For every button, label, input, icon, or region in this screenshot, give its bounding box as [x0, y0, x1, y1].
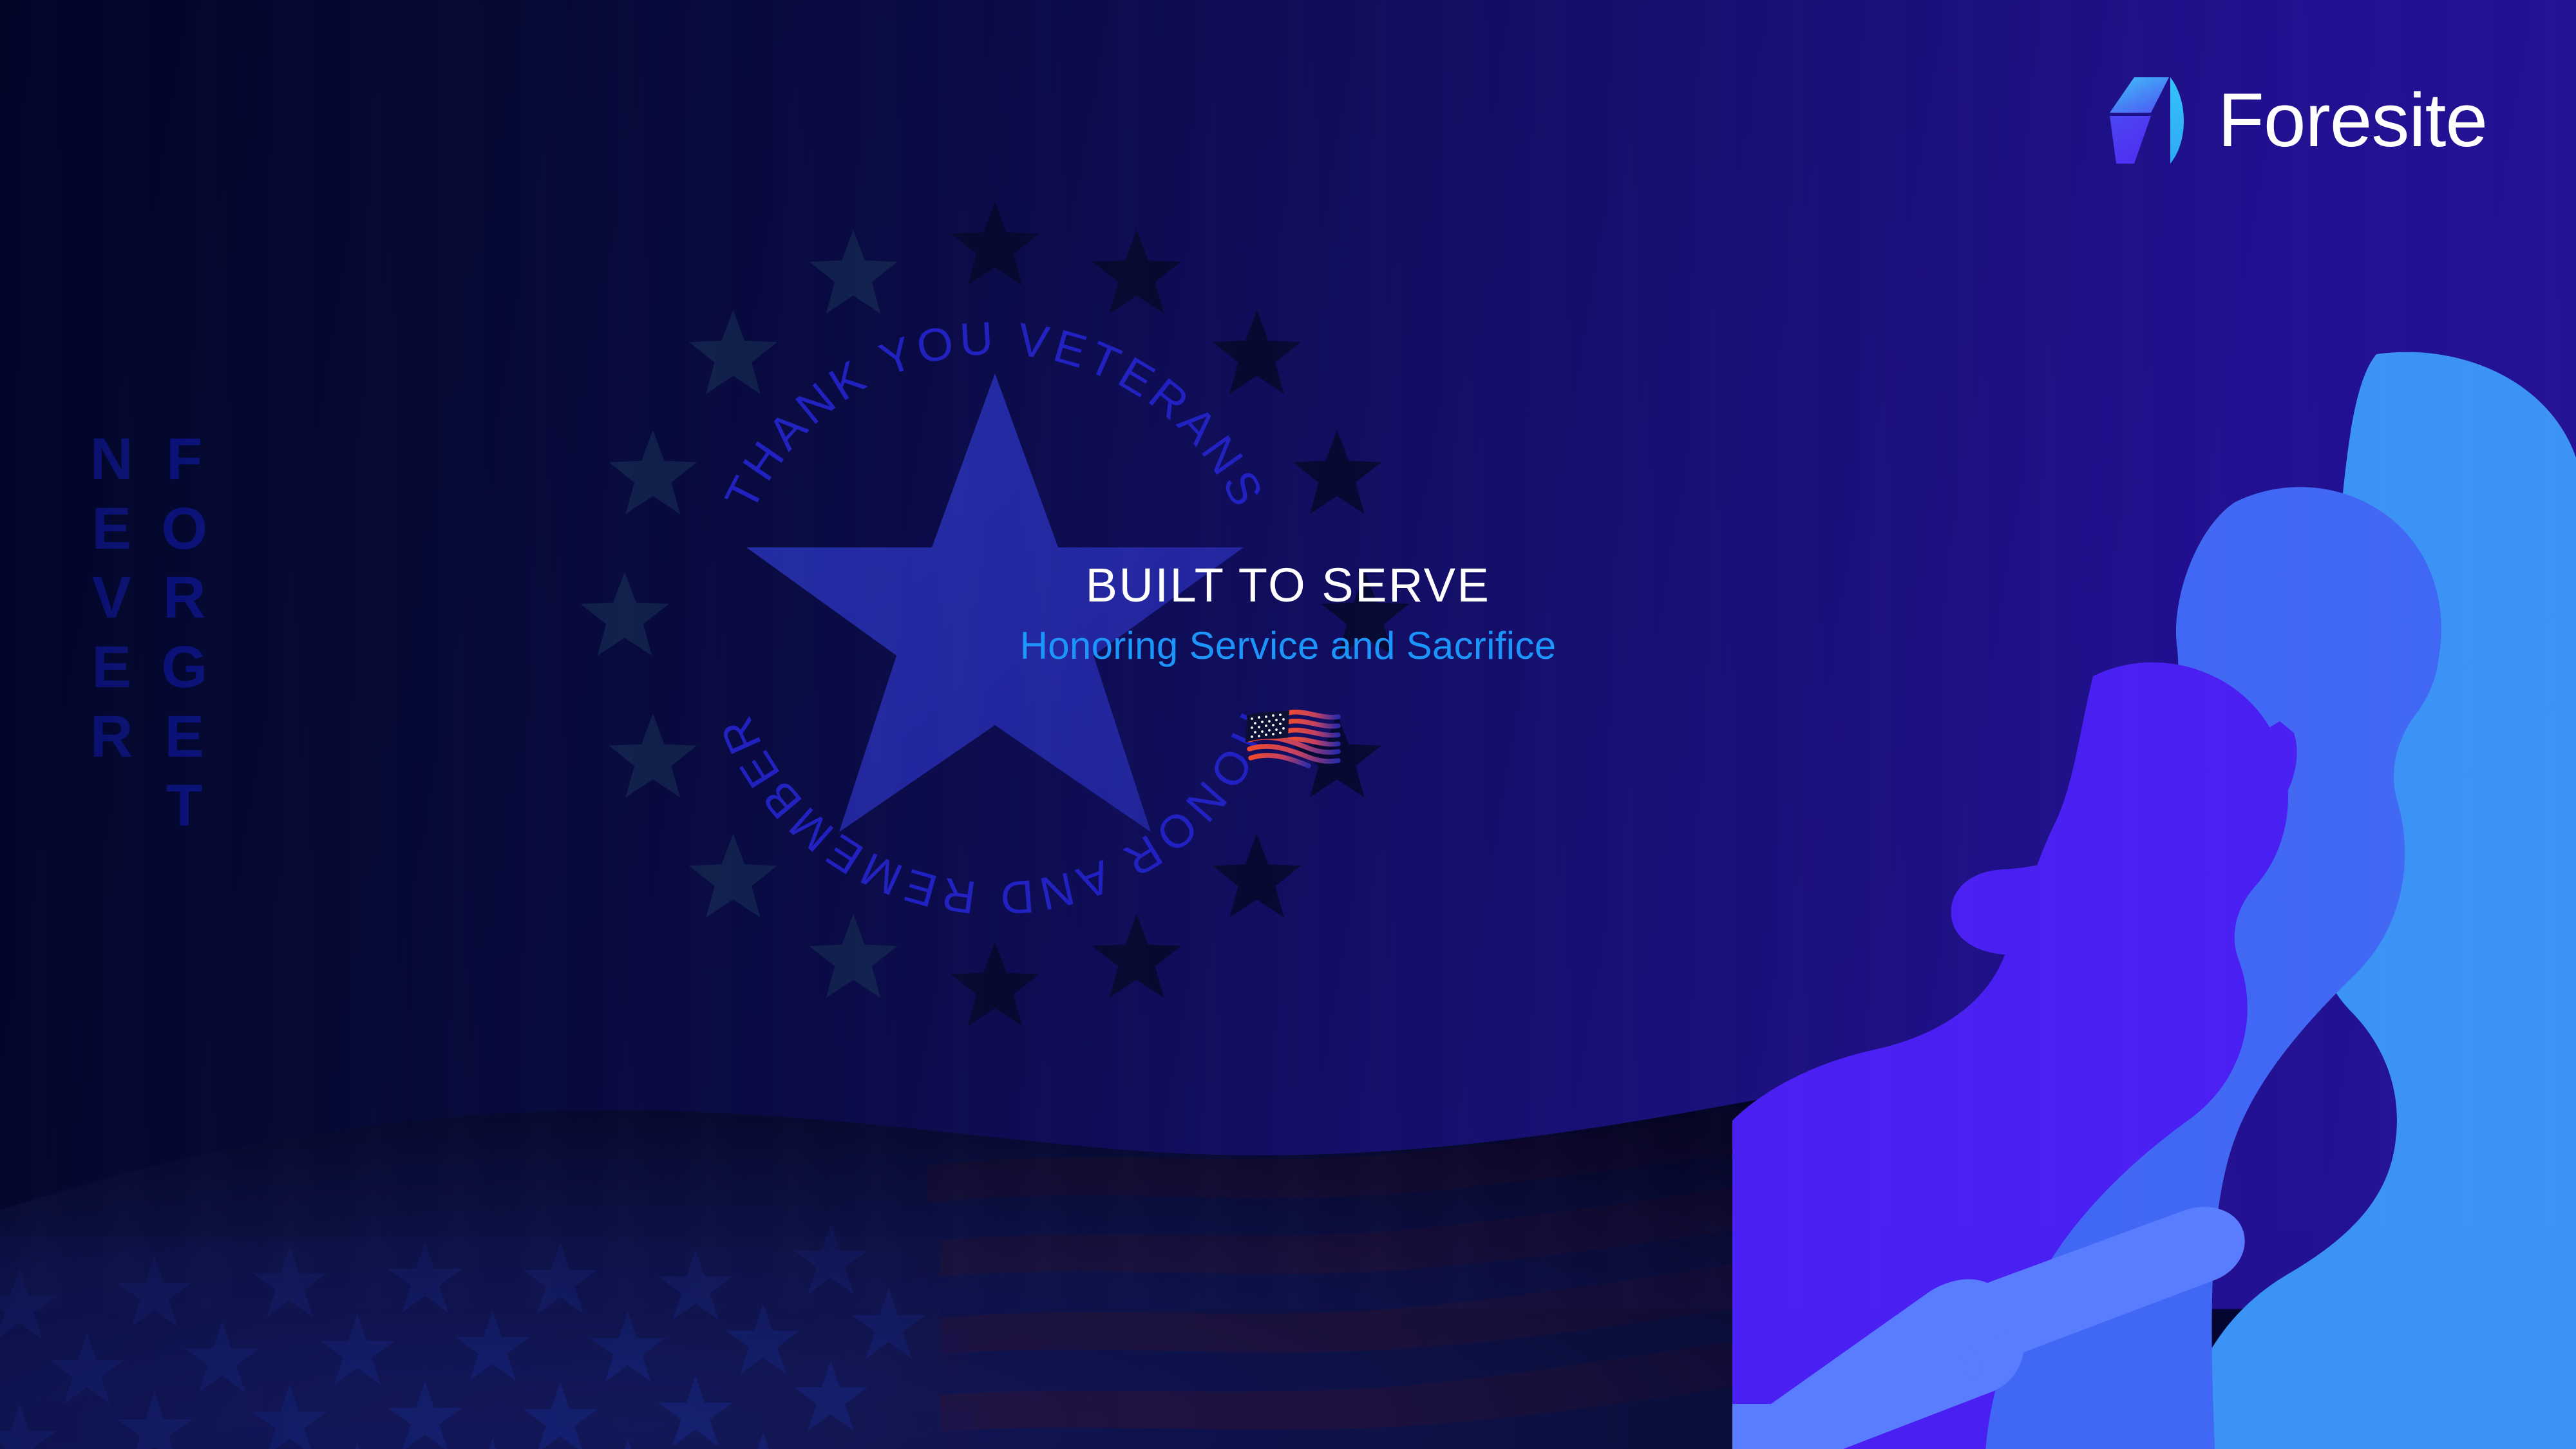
ring-star — [810, 914, 898, 998]
ring-star — [609, 430, 697, 514]
never-letter: R — [90, 703, 133, 772]
waving-us-flag-silhouette — [0, 1030, 1926, 1449]
ring-star — [1093, 230, 1181, 314]
forget-letter: R — [163, 563, 205, 633]
ring-star — [609, 714, 697, 797]
never-forget-vertical-text: N E V E R F O R G E T — [90, 425, 207, 841]
ring-star — [1293, 430, 1381, 514]
brand-name: Foresite — [2218, 82, 2487, 158]
never-letter: E — [92, 633, 131, 703]
ring-star — [1321, 572, 1410, 656]
ring-star — [951, 202, 1039, 285]
never-letter: N — [90, 425, 133, 495]
forget-letter: E — [165, 703, 204, 772]
ring-star — [1093, 914, 1181, 998]
ring-star — [810, 230, 898, 314]
rifle-icon — [1732, 1207, 2245, 1449]
forget-letter: O — [161, 495, 207, 564]
arc-bottom-text: HONOR AND REMEMBER — [709, 706, 1281, 924]
ring-star — [1213, 834, 1301, 918]
never-letter: V — [92, 563, 131, 633]
ring-star — [689, 310, 777, 393]
center-star-shape — [746, 374, 1244, 832]
foresite-logo[interactable]: Foresite — [2108, 72, 2487, 169]
ring-star — [581, 572, 669, 656]
forget-letter: F — [166, 425, 202, 495]
veterans-day-banner: THANK YOU VETERANS HONOR AND REMEMBER — [0, 0, 2576, 1449]
vertical-word-never: N E V E R — [90, 425, 133, 841]
cube-logo-icon — [2108, 72, 2191, 169]
ring-star — [1293, 714, 1381, 797]
ring-star — [951, 942, 1039, 1026]
vertical-word-forget: F O R G E T — [161, 425, 207, 841]
saluting-soldier-silhouette — [1732, 309, 2576, 1449]
ring-star — [689, 834, 777, 918]
veterans-emblem: THANK YOU VETERANS HONOR AND REMEMBER — [538, 161, 1452, 1075]
forget-letter: G — [161, 633, 207, 703]
never-letter: E — [92, 495, 131, 564]
ring-star — [1213, 310, 1301, 393]
forget-letter: T — [166, 772, 202, 841]
